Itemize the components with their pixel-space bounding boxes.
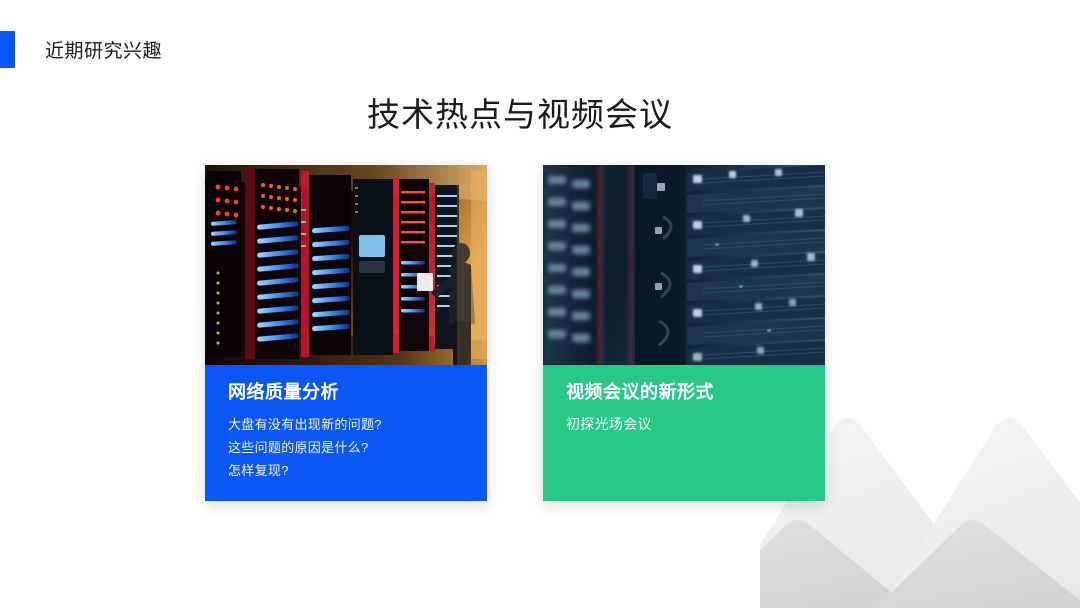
slide-header: 近期研究兴趣	[0, 31, 162, 68]
header-accent-bar	[0, 31, 15, 68]
data-center-servers-icon	[205, 165, 487, 365]
server-rack-closeup-icon	[543, 165, 825, 365]
card-line: 怎样复现?	[228, 459, 464, 482]
card-line: 初探光场会议	[566, 413, 802, 435]
card-line: 大盘有没有出现新的问题?	[228, 413, 464, 436]
page-title: 技术热点与视频会议	[0, 88, 1040, 136]
card-title: 视频会议的新形式	[566, 382, 802, 404]
header-title: 近期研究兴趣	[45, 36, 162, 63]
card-network-quality[interactable]: 网络质量分析 大盘有没有出现新的问题? 这些问题的原因是什么? 怎样复现?	[205, 165, 487, 501]
card-body-video-conference: 视频会议的新形式 初探光场会议	[543, 365, 825, 501]
card-title: 网络质量分析	[228, 382, 464, 404]
card-photo-data-center	[205, 165, 487, 365]
card-photo-server-rack	[543, 165, 825, 365]
slide-canvas: 近期研究兴趣 技术热点与视频会议	[0, 0, 1080, 608]
card-video-conference[interactable]: 视频会议的新形式 初探光场会议	[543, 165, 825, 501]
card-line: 这些问题的原因是什么?	[228, 436, 464, 459]
card-body-network-quality: 网络质量分析 大盘有没有出现新的问题? 这些问题的原因是什么? 怎样复现?	[205, 365, 487, 501]
